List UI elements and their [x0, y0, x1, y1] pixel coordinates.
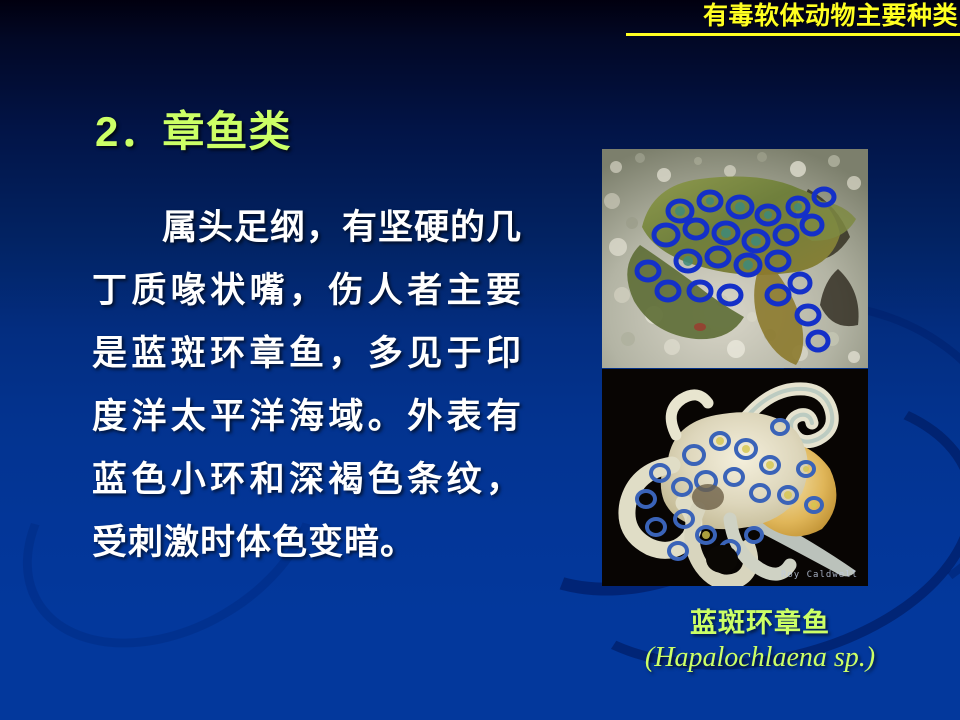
photo-top-artwork [602, 149, 868, 368]
slide-title: 有毒软体动物主要种类 [703, 1, 958, 31]
photo-bottom-artwork [602, 369, 868, 586]
slide-canvas: 有毒软体动物主要种类 2．章鱼类 属头足纲，有坚硬的几丁质喙状嘴，伤人者主要是蓝… [0, 0, 960, 720]
caption-chinese-name: 蓝斑环章鱼 [560, 606, 960, 640]
photo-credit-watermark: Roy Caldwell [781, 570, 858, 580]
photo-blue-ringed-octopus-on-rubble [602, 149, 868, 368]
header-band: 有毒软体动物主要种类 [0, 0, 960, 34]
photo-blue-ringed-octopus-dark-background: Roy Caldwell [602, 369, 868, 586]
body-paragraph: 属头足纲，有坚硬的几丁质喙状嘴，伤人者主要是蓝斑环章鱼，多见于印度洋太平洋海域。… [92, 196, 522, 574]
title-underline-rule [626, 33, 960, 36]
caption-scientific-name: (Hapalochlaena sp.) [560, 640, 960, 676]
figure-caption: 蓝斑环章鱼 (Hapalochlaena sp.) [560, 606, 960, 676]
section-heading: 2．章鱼类 [95, 104, 291, 160]
